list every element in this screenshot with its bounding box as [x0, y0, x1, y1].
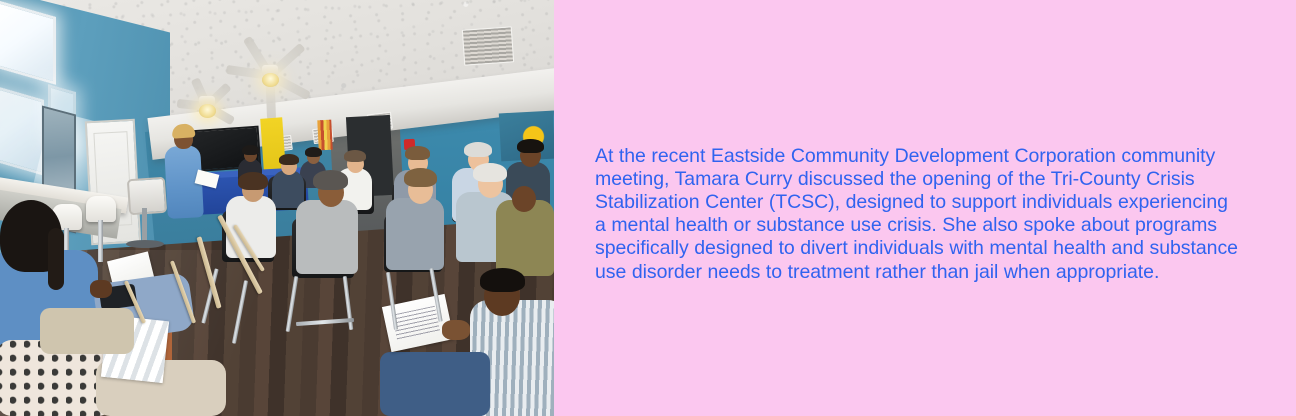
office-chair [127, 177, 167, 216]
office-chair-post [142, 208, 147, 242]
wall-art-strip [317, 120, 333, 151]
window [0, 84, 44, 175]
caption-paragraph: At the recent Eastside Community Develop… [595, 145, 1243, 284]
air-vent-icon [462, 26, 514, 65]
bar-stool [86, 196, 116, 222]
article-banner: At the recent Eastside Community Develop… [0, 0, 1296, 416]
office-chair-base [126, 240, 164, 248]
caption-panel: At the recent Eastside Community Develop… [554, 0, 1296, 416]
stool-leg [98, 220, 103, 262]
ceiling-fan-icon [172, 86, 242, 118]
meeting-photo [0, 0, 554, 416]
photo-scene [0, 0, 554, 416]
